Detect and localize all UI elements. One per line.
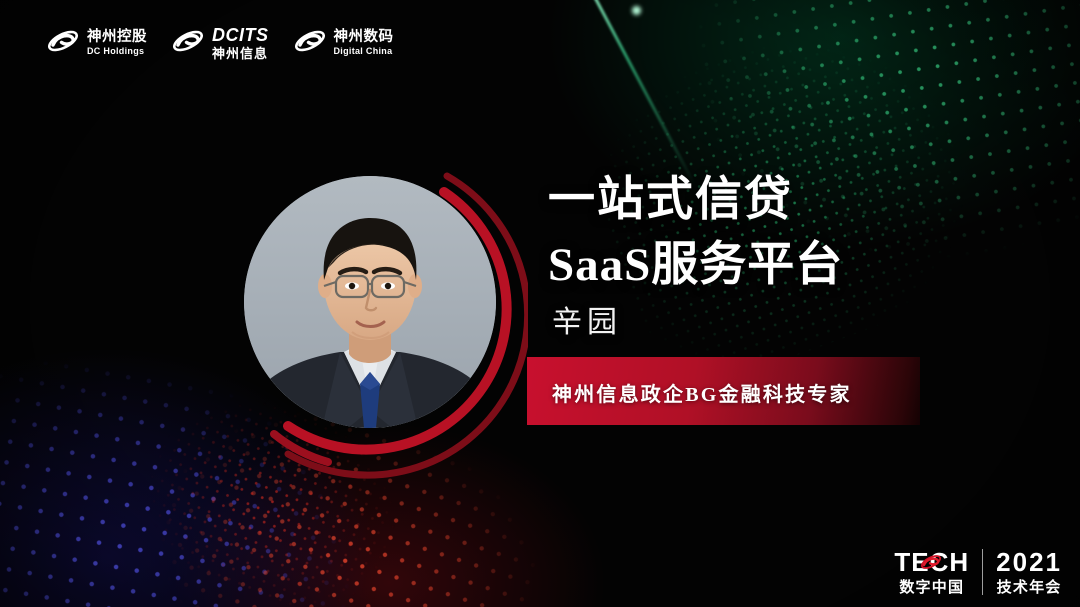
logo-dcits: 神州信息 DCITS [171,26,269,60]
speaker-headshot-image [244,176,496,428]
swoosh-icon [171,28,205,59]
logo-digital-china-cn: 神州数码 [334,30,394,45]
light-streak-highlight [632,6,641,15]
speaker-portrait-group [188,128,518,476]
event-logo-year: 2021 [996,549,1062,575]
speaker-role: 神州信息政企BG金融科技专家 [552,378,852,407]
logo-digital-china-en: Digital China [334,47,394,56]
logo-digital-china: 神州数码 Digital China [293,28,394,59]
logo-dc-holdings-cn: 神州控股 [87,30,147,45]
title-line-2: SaaS服务平台 [548,233,843,298]
swoosh-icon [46,28,80,59]
avatar [244,176,496,428]
event-logo-subtitle: 技术年会 [997,580,1062,595]
swoosh-icon [920,553,942,575]
logo-dc-holdings: 神州控股 DC Holdings [46,28,147,59]
event-logo-cn: 数字中国 [899,580,964,595]
logo-dcits-cn: 神州信息 [212,47,269,60]
speaker-name: 辛园 [552,297,622,341]
logo-dcits-en: DCITS [212,26,269,44]
presentation-slide: 神州控股 DC Holdings 神州信息 DCITS [0,0,1080,607]
page-title: 一站式信贷 SaaS服务平台 [548,168,843,298]
logo-dc-holdings-en: DC Holdings [87,47,147,56]
corporate-logo-row: 神州控股 DC Holdings 神州信息 DCITS [46,26,394,60]
event-logo: TECH 数字中国 2021 技术年会 [894,549,1062,595]
title-line-1: 一站式信贷 [548,168,843,233]
event-logo-divider [982,549,983,595]
swoosh-icon [293,28,327,59]
